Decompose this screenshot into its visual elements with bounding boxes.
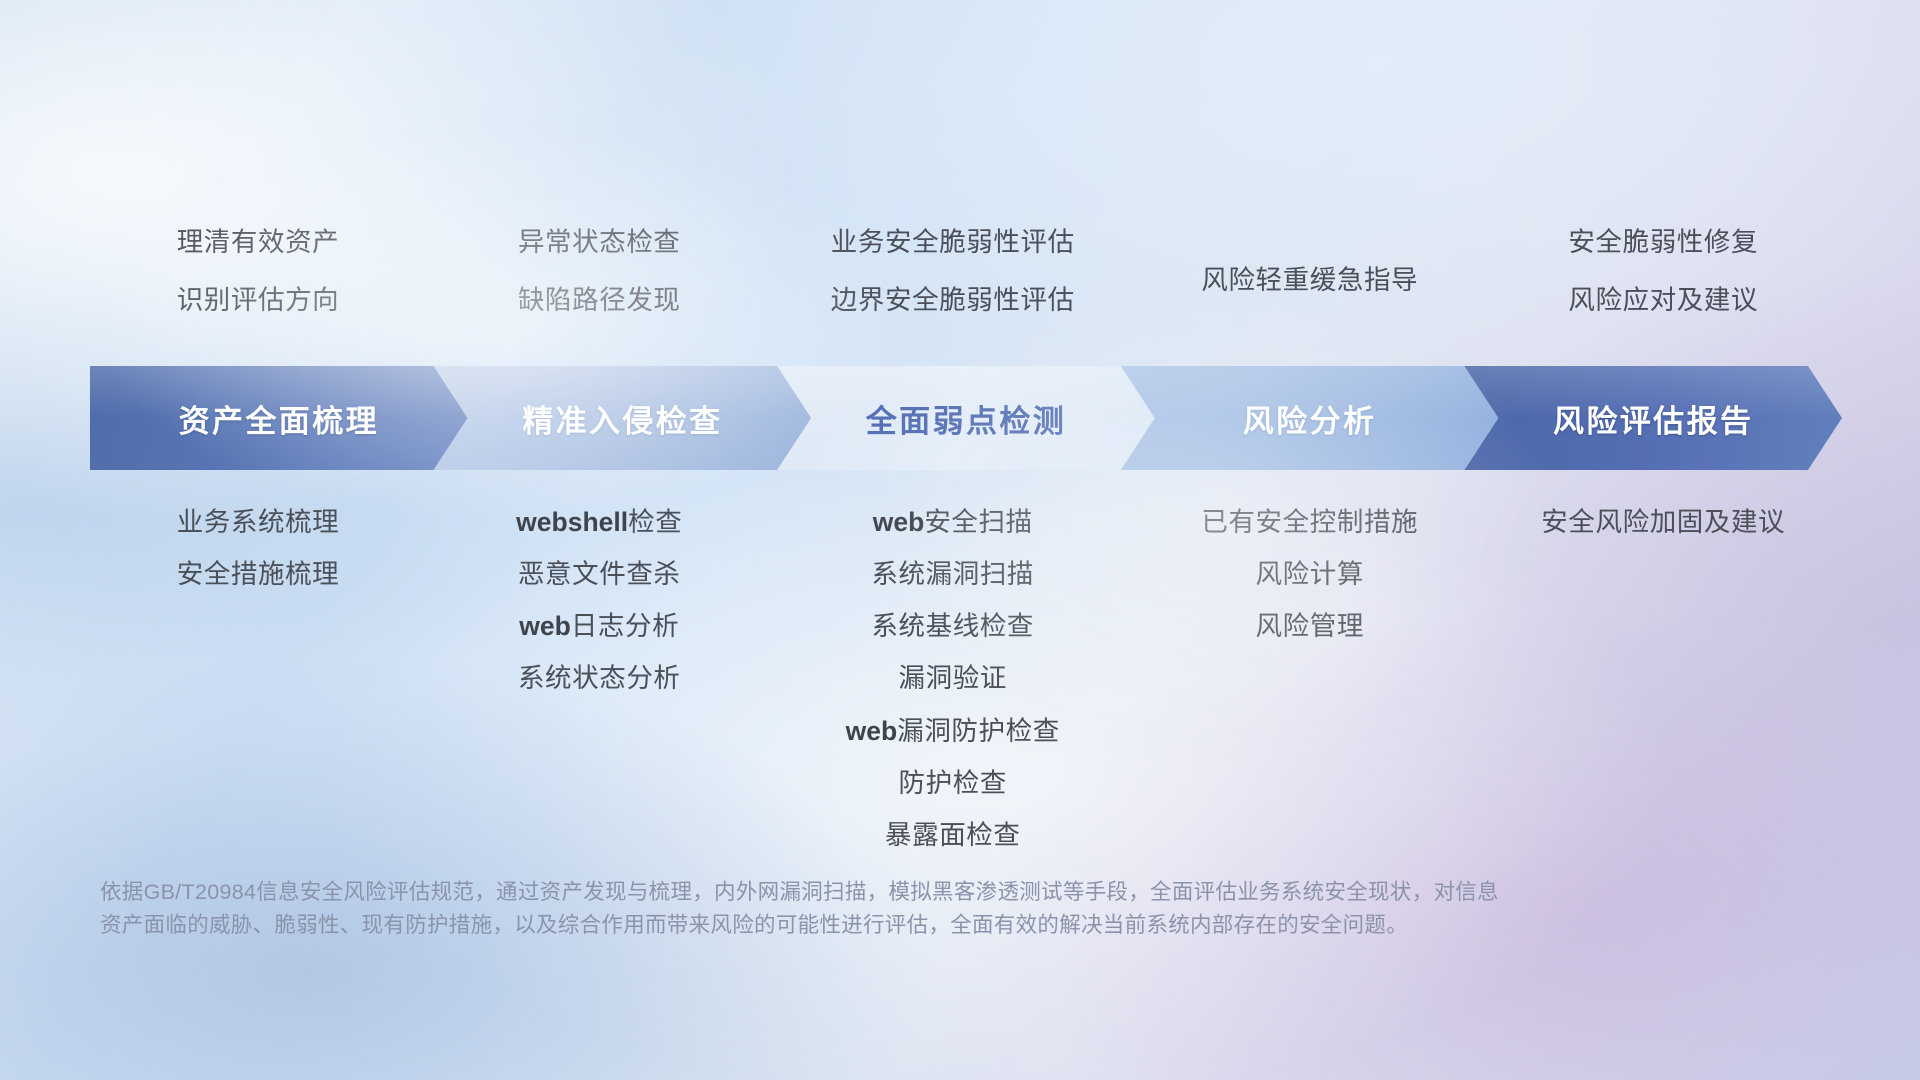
lower-item: 风险管理 (1133, 612, 1487, 641)
item-latin-part: webshell (516, 507, 628, 537)
risk-assessment-process-slide: 理清有效资产识别评估方向异常状态检查缺陷路径发现业务安全脆弱性评估边界安全脆弱性… (0, 0, 1920, 1080)
upper-text-row: 理清有效资产识别评估方向异常状态检查缺陷路径发现业务安全脆弱性评估边界安全脆弱性… (90, 228, 1840, 315)
lower-item: 已有安全控制措施 (1133, 508, 1487, 537)
item-cjk-part: 日志分析 (571, 611, 679, 641)
lower-item: 防护检查 (773, 769, 1134, 798)
item-cjk-part: 系统基线检查 (871, 611, 1034, 641)
lower-item: 暴露面检查 (773, 821, 1134, 850)
upper-item: 异常状态检查 (426, 228, 773, 258)
footer-description: 依据GB/T20984信息安全风险评估规范，通过资产发现与梳理，内外网漏洞扫描，… (100, 876, 1720, 943)
lower-item: 业务系统梳理 (90, 508, 426, 537)
item-cjk-part: 防护检查 (899, 768, 1007, 798)
item-cjk-part: 系统状态分析 (518, 663, 681, 693)
stage-label: 全面弱点检测 (866, 396, 1066, 441)
upper-item: 风险轻重缓急指导 (1133, 266, 1487, 296)
lower-item: 漏洞验证 (773, 664, 1134, 693)
upper-item: 理清有效资产 (90, 228, 426, 258)
stage-label: 精准入侵检查 (522, 396, 722, 441)
lower-item: 安全风险加固及建议 (1487, 508, 1841, 537)
item-latin-part: web (873, 507, 925, 537)
process-stage-4[interactable]: 风险分析 (1121, 366, 1499, 470)
process-arrow-banner: 资产全面梳理精准入侵检查全面弱点检测风险分析风险评估报告 (90, 366, 1842, 470)
lower-column-5: 安全风险加固及建议 (1487, 508, 1841, 537)
item-latin-part: web (519, 611, 571, 641)
upper-item: 缺陷路径发现 (426, 286, 773, 316)
lower-column-1: 业务系统梳理安全措施梳理 (90, 508, 426, 589)
lower-item: 系统漏洞扫描 (773, 560, 1134, 589)
lower-item: web日志分析 (426, 612, 773, 641)
upper-item: 边界安全脆弱性评估 (773, 286, 1134, 316)
lower-column-2: webshell检查恶意文件查杀web日志分析系统状态分析 (426, 508, 773, 694)
upper-item: 风险应对及建议 (1487, 286, 1841, 316)
item-cjk-part: 恶意文件查杀 (518, 559, 681, 589)
item-cjk-part: 漏洞验证 (899, 663, 1007, 693)
item-cjk-part: 安全风险加固及建议 (1541, 507, 1785, 537)
lower-text-row: 业务系统梳理安全措施梳理webshell检查恶意文件查杀web日志分析系统状态分… (90, 508, 1840, 850)
item-cjk-part: 检查 (628, 507, 682, 537)
item-cjk-part: 安全扫描 (924, 507, 1032, 537)
lower-item: 系统状态分析 (426, 664, 773, 693)
lower-item: 系统基线检查 (773, 612, 1134, 641)
upper-column-1: 理清有效资产识别评估方向 (90, 228, 426, 315)
upper-column-3: 业务安全脆弱性评估边界安全脆弱性评估 (773, 228, 1134, 315)
item-cjk-part: 漏洞防护检查 (897, 716, 1060, 746)
stage-label: 资产全面梳理 (179, 396, 379, 441)
process-stage-3[interactable]: 全面弱点检测 (777, 366, 1155, 470)
lower-column-3: web安全扫描系统漏洞扫描系统基线检查漏洞验证web漏洞防护检查防护检查暴露面检… (773, 508, 1134, 850)
upper-item: 业务安全脆弱性评估 (773, 228, 1134, 258)
item-cjk-part: 系统漏洞扫描 (871, 559, 1034, 589)
item-cjk-part: 已有安全控制措施 (1201, 507, 1418, 537)
lower-item: webshell检查 (426, 508, 773, 537)
upper-column-4: 风险轻重缓急指导 (1133, 228, 1487, 296)
upper-item: 识别评估方向 (90, 286, 426, 316)
item-cjk-part: 暴露面检查 (885, 820, 1021, 850)
stage-label: 风险分析 (1243, 396, 1377, 441)
lower-item: web安全扫描 (773, 508, 1134, 537)
lower-column-4: 已有安全控制措施风险计算风险管理 (1133, 508, 1487, 641)
upper-column-2: 异常状态检查缺陷路径发现 (426, 228, 773, 315)
footer-line-1: 依据GB/T20984信息安全风险评估规范，通过资产发现与梳理，内外网漏洞扫描，… (100, 876, 1720, 909)
process-stage-1[interactable]: 资产全面梳理 (90, 366, 468, 470)
footer-line-2: 资产面临的威胁、脆弱性、现有防护措施，以及综合作用而带来风险的可能性进行评估，全… (100, 909, 1720, 942)
process-stage-5[interactable]: 风险评估报告 (1464, 366, 1842, 470)
lower-item: web漏洞防护检查 (773, 717, 1134, 746)
item-cjk-part: 风险管理 (1256, 611, 1364, 641)
item-cjk-part: 安全措施梳理 (177, 559, 340, 589)
item-latin-part: web (846, 716, 898, 746)
item-cjk-part: 风险计算 (1256, 559, 1364, 589)
lower-item: 安全措施梳理 (90, 560, 426, 589)
lower-item: 风险计算 (1133, 560, 1487, 589)
upper-column-5: 安全脆弱性修复风险应对及建议 (1487, 228, 1841, 315)
process-stage-2[interactable]: 精准入侵检查 (434, 366, 812, 470)
upper-item: 安全脆弱性修复 (1487, 228, 1841, 258)
lower-item: 恶意文件查杀 (426, 560, 773, 589)
stage-label: 风险评估报告 (1553, 396, 1753, 441)
item-cjk-part: 业务系统梳理 (177, 507, 340, 537)
